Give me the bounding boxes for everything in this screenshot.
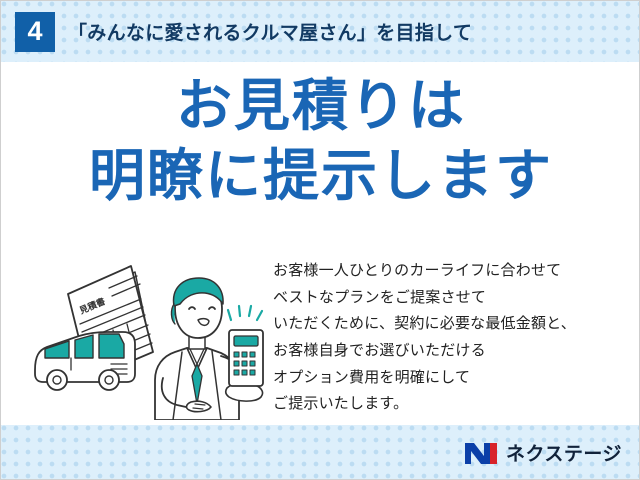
nextage-n-logo-icon	[463, 440, 499, 466]
brand-logo: ネクステージ	[463, 425, 622, 480]
body-copy-line: いただくために、契約に必要な最低金額と、	[273, 311, 633, 338]
header-title: 「みんなに愛されるクルマ屋さん」を目指して	[68, 18, 472, 45]
body-copy-line: ベストなプランをご提案させて	[273, 285, 633, 312]
illustration-salesman-quotation: 見積書	[23, 252, 273, 420]
sparkle-icon	[228, 306, 262, 320]
body-copy-line: お客様一人ひとりのカーライフに合わせて	[273, 258, 633, 285]
section-number-badge: 4	[15, 12, 55, 52]
headline: お見積りは 明瞭に提示します	[1, 74, 640, 208]
main-content: お見積りは 明瞭に提示します お客様一人ひとりのカーライフに合わせて ベストなプ…	[1, 62, 640, 425]
body-copy-line: お客様自身でお選びいただける	[273, 338, 633, 365]
promo-slide: 4 「みんなに愛されるクルマ屋さん」を目指して お見積りは 明瞭に提示します お…	[0, 0, 640, 480]
body-copy-line: ご提示いたします。	[273, 391, 633, 418]
calculator-icon	[229, 330, 263, 386]
header: 4 「みんなに愛されるクルマ屋さん」を目指して	[1, 1, 640, 62]
body-copy-line: オプション費用を明確にして	[273, 365, 633, 392]
headline-line-2: 明瞭に提示します	[1, 144, 640, 208]
van-illustration	[35, 332, 135, 390]
headline-line-1: お見積りは	[1, 74, 640, 138]
body-copy: お客様一人ひとりのカーライフに合わせて ベストなプランをご提案させて いただくた…	[273, 258, 633, 418]
brand-name: ネクステージ	[506, 439, 622, 466]
